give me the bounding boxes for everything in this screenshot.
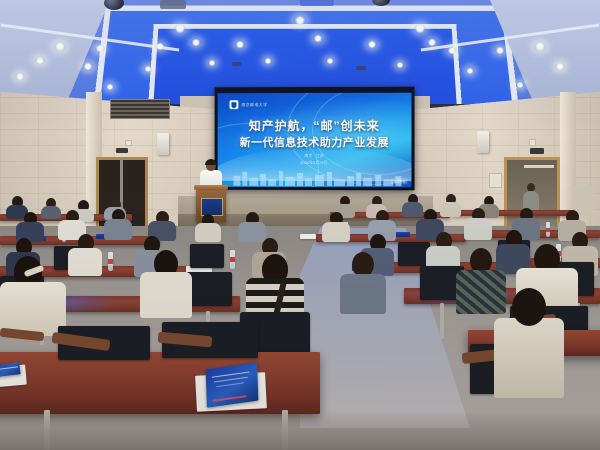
water-bottle[interactable] xyxy=(230,250,235,269)
presenter-hair xyxy=(205,159,217,165)
chair[interactable] xyxy=(190,244,224,268)
ceiling-downlight xyxy=(264,58,272,64)
ceiling-downlight xyxy=(144,66,152,72)
ceiling-downlight xyxy=(106,84,114,90)
audience-body xyxy=(140,272,192,318)
ceiling-sensor xyxy=(232,62,241,66)
ceiling-vent-center xyxy=(300,0,334,6)
conference-hall-photo: 南京邮电大学 知产护航，“邮”创未来 新一代信息技术助力产业发展 南京 · 江苏… xyxy=(0,0,600,450)
audience-body xyxy=(402,202,423,217)
lectern-top xyxy=(194,185,228,190)
blue-booklet[interactable] xyxy=(206,362,259,407)
ceiling-downlight xyxy=(294,16,306,25)
left-wall-outlet[interactable] xyxy=(125,140,132,146)
university-emblem-icon xyxy=(229,100,238,109)
ceiling-downlight xyxy=(516,82,524,88)
right-wall-switch-panel[interactable] xyxy=(530,148,544,154)
right-wall-speaker xyxy=(477,131,489,153)
screen-title-line-1: 知产护航，“邮”创未来 xyxy=(218,117,412,135)
booklet-text-line xyxy=(216,382,244,387)
screen-org-logo: 南京邮电大学 xyxy=(229,100,267,109)
right-wall-outlet[interactable] xyxy=(529,139,536,146)
ceiling-downlight xyxy=(414,24,426,33)
audience-body-patterned xyxy=(456,270,506,314)
audience-body xyxy=(440,202,461,217)
left-wall-switch-panel[interactable] xyxy=(116,148,128,153)
booklet-text-line xyxy=(0,366,18,370)
screen-corner-tag: 主办单位 xyxy=(391,178,407,184)
table-row xyxy=(452,210,572,216)
handout-paper[interactable] xyxy=(300,234,316,239)
ceiling-sensor-2 xyxy=(356,66,366,70)
foreground-table xyxy=(0,352,320,414)
ceiling-downlight xyxy=(534,42,546,51)
left-wall-air-vent xyxy=(110,99,170,119)
corridor-light xyxy=(524,165,554,168)
chair[interactable] xyxy=(186,272,232,306)
audience-body xyxy=(238,222,266,242)
audience-head xyxy=(512,288,546,326)
ceiling-downlight xyxy=(54,42,66,51)
presentation-screen: 南京邮电大学 知产护航，“邮”创未来 新一代信息技术助力产业发展 南京 · 江苏… xyxy=(218,93,412,188)
booklet-accent-line xyxy=(213,395,247,402)
audience-body xyxy=(464,218,492,240)
water-bottle[interactable] xyxy=(108,252,113,271)
audience-body-foreground-right xyxy=(494,318,564,398)
water-bottle[interactable] xyxy=(546,222,550,237)
audience-body xyxy=(322,222,350,242)
screen-skyline-graphic xyxy=(227,170,407,186)
bottom-shadow xyxy=(0,410,600,450)
left-wall-speaker xyxy=(157,133,169,155)
ceiling-downlight xyxy=(326,58,334,64)
ceiling-vent-left xyxy=(160,0,186,9)
audience-body xyxy=(41,206,61,219)
audience-body xyxy=(104,219,132,240)
ceiling-downlight xyxy=(396,62,404,68)
screen-org-logo-text: 南京邮电大学 xyxy=(241,102,267,108)
audience-body xyxy=(68,248,102,276)
lectern-front-panel xyxy=(201,198,223,216)
ceiling-downlight xyxy=(174,24,186,33)
ceiling-downlight xyxy=(466,68,474,74)
right-wall-notice xyxy=(489,173,502,188)
audience-body xyxy=(195,223,221,242)
ceiling-downlight xyxy=(208,60,216,66)
presentation-screen-frame: 南京邮电大学 知产护航，“邮”创未来 新一代信息技术助力产业发展 南京 · 江苏… xyxy=(215,87,415,191)
audience-body xyxy=(340,274,386,314)
table-leg xyxy=(440,303,444,339)
